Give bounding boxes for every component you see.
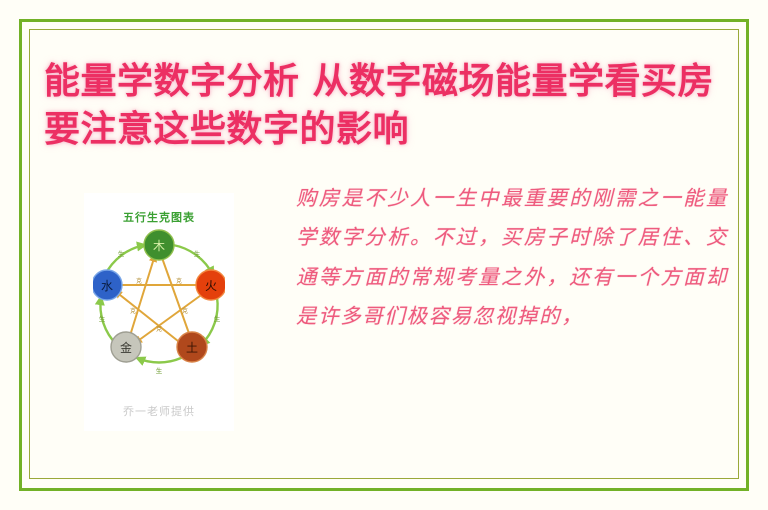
page-root: 能量学数字分析 从数字磁场能量学看买房要注意这些数字的影响 五行生克图表 (0, 0, 768, 510)
svg-text:火: 火 (205, 279, 217, 293)
svg-text:克: 克 (130, 307, 136, 315)
wuxing-pentagram-diagram: 生 生 生 生 生 (93, 227, 225, 377)
svg-text:土: 土 (186, 341, 198, 355)
svg-text:生: 生 (118, 249, 125, 258)
element-node-water: 水 (93, 270, 122, 300)
svg-text:水: 水 (101, 279, 113, 293)
figure-title: 五行生克图表 (84, 209, 234, 225)
element-node-wood: 木 (144, 230, 174, 260)
svg-text:克: 克 (156, 325, 162, 333)
page-title: 能量学数字分析 从数字磁场能量学看买房要注意这些数字的影响 (40, 40, 728, 153)
article-body-row: 五行生克图表 (40, 177, 728, 447)
element-node-fire: 火 (196, 270, 225, 300)
figure-credit: 乔一老师提供 (84, 403, 234, 419)
svg-text:克: 克 (176, 277, 182, 285)
svg-text:生: 生 (156, 366, 163, 375)
svg-text:生: 生 (214, 314, 221, 323)
svg-text:金: 金 (120, 340, 132, 355)
svg-text:生: 生 (99, 314, 106, 323)
article-text: 购房是不少人一生中最重要的刚需之一能量学数字分析。不过，买房子时除了居住、交通等… (296, 177, 728, 336)
wuxing-figure-card: 五行生克图表 (84, 193, 234, 431)
article-paragraph: 购房是不少人一生中最重要的刚需之一能量学数字分析。不过，买房子时除了居住、交通等… (296, 179, 728, 336)
content-area: 能量学数字分析 从数字磁场能量学看买房要注意这些数字的影响 五行生克图表 (40, 40, 728, 466)
svg-text:克: 克 (182, 307, 188, 315)
svg-text:克: 克 (136, 277, 142, 285)
element-node-metal: 金 (111, 332, 141, 362)
svg-text:木: 木 (153, 239, 165, 253)
element-node-earth: 土 (177, 332, 207, 362)
svg-text:生: 生 (194, 249, 201, 258)
